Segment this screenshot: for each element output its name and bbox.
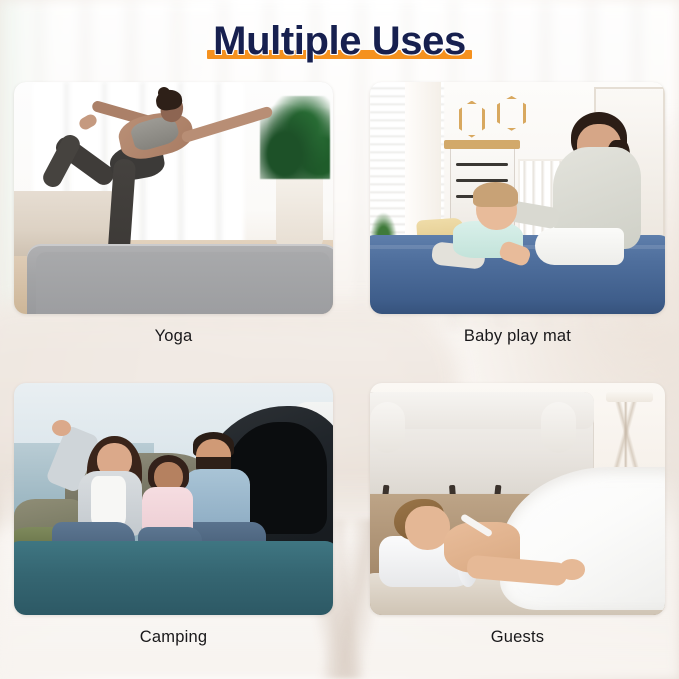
nursery-dresser-top xyxy=(444,140,521,149)
caption-camping: Camping xyxy=(14,628,333,647)
camping-mat xyxy=(14,541,333,615)
use-case-card-yoga xyxy=(14,82,333,314)
title-inner: Multiple Uses xyxy=(207,18,472,65)
caption-guests: Guests xyxy=(370,628,665,647)
yoga-hair-bun xyxy=(158,87,170,99)
yoga-mat xyxy=(27,244,333,314)
guests-sofa-bolster-right xyxy=(541,402,576,453)
baby-hair xyxy=(473,182,517,208)
caption-baby-play-mat: Baby play mat xyxy=(370,327,665,346)
use-case-card-guests xyxy=(370,383,665,615)
page-title: Multiple Uses xyxy=(213,18,466,65)
use-case-card-baby-play-mat xyxy=(370,82,665,314)
caption-yoga: Yoga xyxy=(14,327,333,346)
yoga-front-arm xyxy=(180,106,273,144)
photo-guests xyxy=(370,383,665,615)
guests-side-table xyxy=(606,392,653,471)
camping-mother-shirt xyxy=(91,476,126,527)
title-block: Multiple Uses xyxy=(0,18,679,65)
mother-legs xyxy=(535,228,624,265)
yoga-raised-foot xyxy=(78,112,100,131)
guests-sofa-bolster-left xyxy=(370,402,405,453)
use-case-card-camping xyxy=(14,383,333,615)
photo-camping xyxy=(14,383,333,615)
photo-yoga xyxy=(14,82,333,314)
use-case-grid xyxy=(14,82,665,652)
photo-baby-play-mat xyxy=(370,82,665,314)
